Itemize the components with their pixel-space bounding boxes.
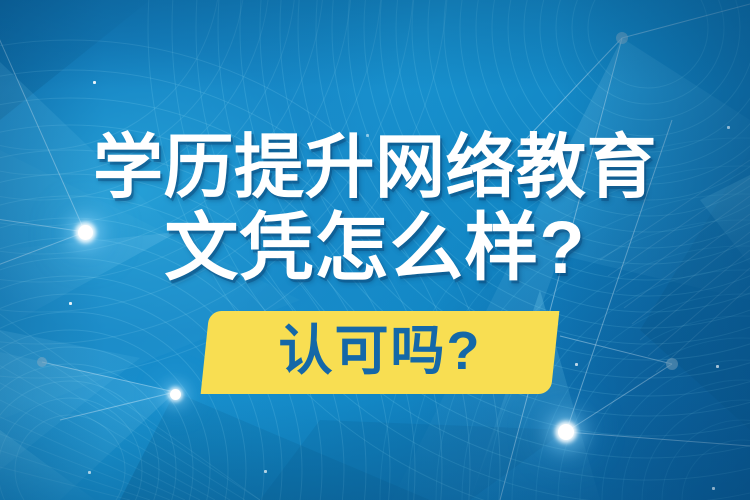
badge-label: 认可吗? — [205, 311, 555, 394]
headline-block: 学历提升网络教育 文凭怎么样? — [0, 128, 750, 290]
promo-banner: 学历提升网络教育 文凭怎么样? 认可吗? — [0, 0, 750, 500]
highlight-badge: 认可吗? — [205, 311, 555, 394]
headline-line-1: 学历提升网络教育 — [0, 128, 750, 206]
headline-line-2: 文凭怎么样? — [0, 206, 750, 290]
